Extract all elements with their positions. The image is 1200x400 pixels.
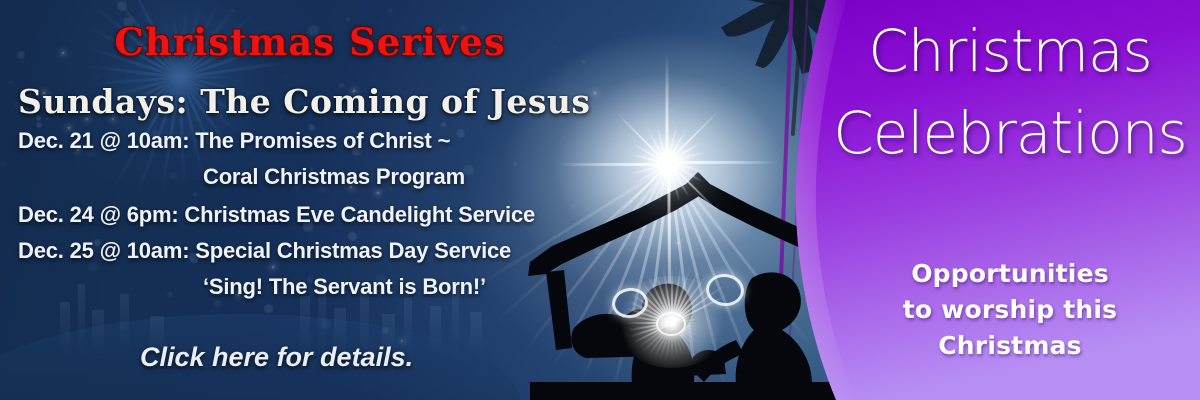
- purple-subtext-line2: to worship this: [830, 292, 1190, 328]
- schedule-line: Dec. 24 @ 6pm: Christmas Eve Candelight …: [18, 202, 628, 228]
- schedule-line: Dec. 25 @ 10am: Special Christmas Day Se…: [18, 238, 628, 264]
- banner-title: Christmas Serives: [0, 20, 620, 64]
- left-text-column: Christmas Serives Sundays: The Coming of…: [0, 0, 640, 400]
- purple-panel-text: Christmas Celebrations Opportunities to …: [780, 0, 1200, 400]
- christmas-services-banner: Christmas Serives Sundays: The Coming of…: [0, 0, 1200, 400]
- schedule-line: Dec. 21 @ 10am: The Promises of Christ ~: [18, 128, 628, 154]
- service-schedule-list: Dec. 21 @ 10am: The Promises of Christ ~…: [18, 128, 628, 300]
- series-subtitle: Sundays: The Coming of Jesus: [18, 82, 590, 121]
- schedule-line: Coral Christmas Program: [18, 164, 628, 190]
- celebrations-heading-line2: Celebrations: [830, 104, 1190, 162]
- schedule-line: ‘Sing! The Servant is Born!’: [18, 274, 628, 300]
- purple-subtext-line3: Christmas: [830, 328, 1190, 364]
- purple-panel: Christmas Celebrations Opportunities to …: [780, 0, 1200, 400]
- purple-subtext-line1: Opportunities: [830, 256, 1190, 292]
- celebrations-heading-line1: Christmas: [830, 22, 1190, 80]
- click-here-for-details-link[interactable]: Click here for details.: [140, 342, 413, 373]
